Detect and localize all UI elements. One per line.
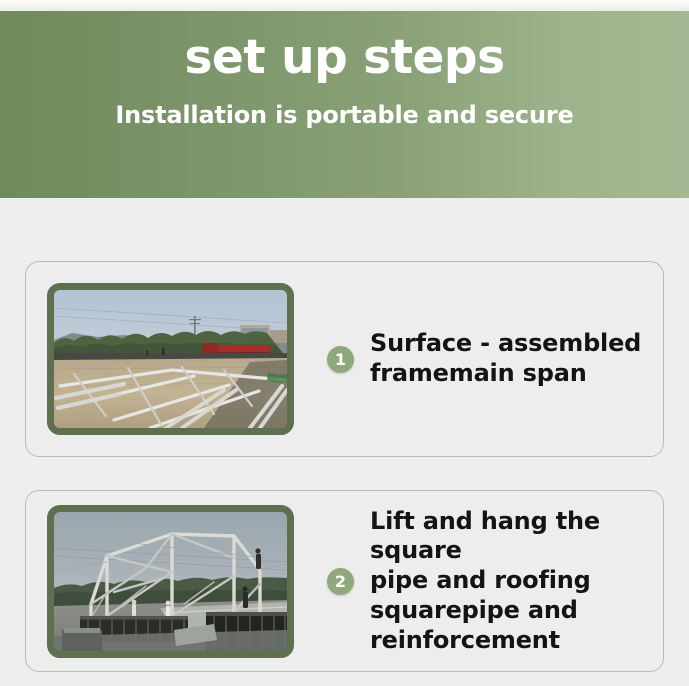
- page-header-banner: set up steps Installation is portable an…: [0, 11, 689, 198]
- step-2-photo-frame: [47, 505, 294, 658]
- step-1-number-badge: 1: [327, 346, 354, 373]
- step-1-description: Surface - assembled framemain span: [370, 329, 653, 389]
- step-2-photo: [54, 512, 287, 651]
- top-light-strip: [0, 0, 689, 11]
- page-title: set up steps: [184, 33, 504, 82]
- step-2-number-badge: 2: [327, 568, 354, 595]
- steps-list: 1 Surface - assembled framemain span: [0, 198, 689, 686]
- step-card-1[interactable]: 1 Surface - assembled framemain span: [25, 261, 664, 457]
- page-subtitle: Installation is portable and secure: [115, 101, 573, 129]
- step-2-description: Lift and hang the square pipe and roofin…: [370, 507, 653, 656]
- step-card-2[interactable]: 2 Lift and hang the square pipe and roof…: [25, 490, 664, 672]
- step-1-photo-frame: [47, 283, 294, 435]
- step-1-photo: [54, 290, 287, 428]
